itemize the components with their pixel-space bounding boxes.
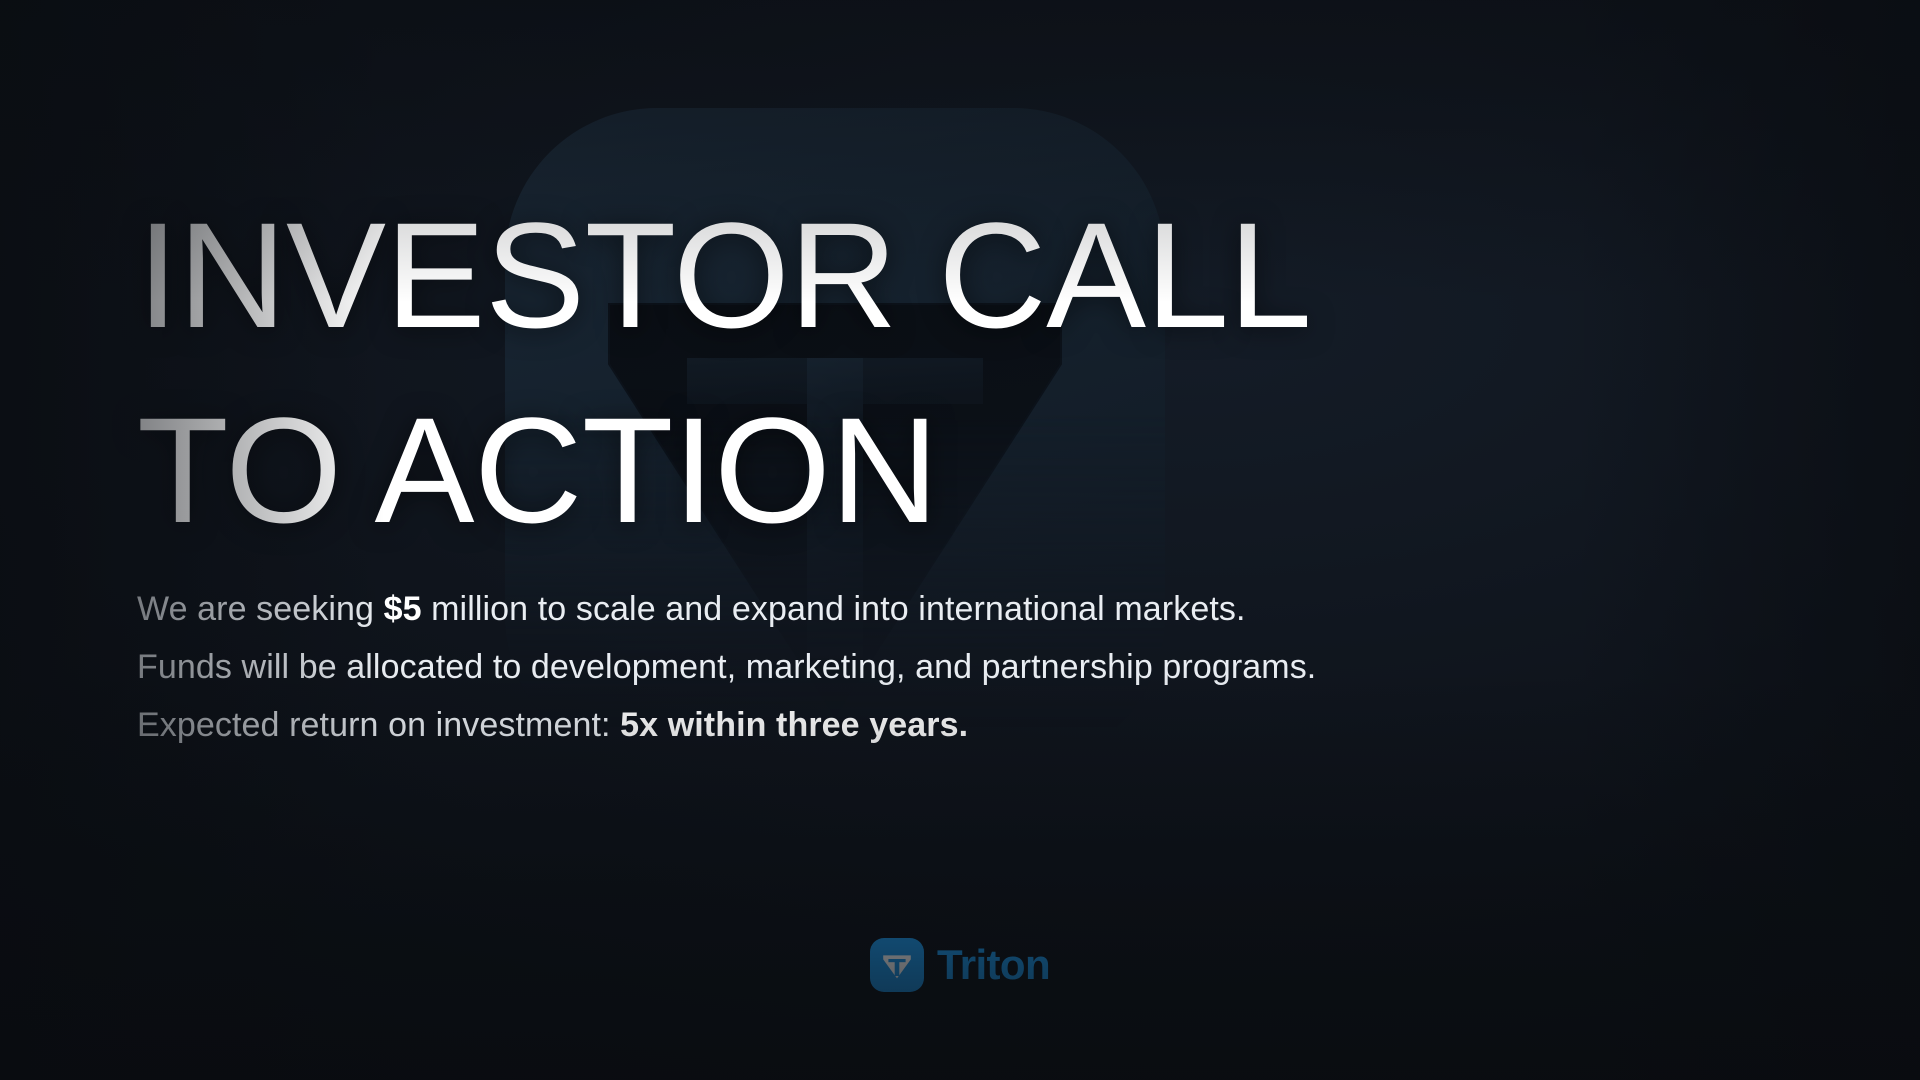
body-line-1-emphasis: $5 xyxy=(384,590,422,628)
body-line-3-part1: Expected return on investment: xyxy=(137,706,620,744)
body-line-2-part1: Funds will be allocated to development, … xyxy=(137,648,1316,686)
body-line-1-part1: We are seeking xyxy=(137,590,384,628)
body-line-2: Funds will be allocated to development, … xyxy=(137,638,1637,696)
brand-logo-lockup: Triton xyxy=(0,938,1920,992)
page-title: INVESTOR CALL TO ACTION xyxy=(137,178,1311,568)
brand-name: Triton xyxy=(937,944,1050,986)
body-line-1-part2: million to scale and expand into interna… xyxy=(422,590,1246,628)
body-line-1: We are seeking $5 million to scale and e… xyxy=(137,580,1637,638)
body-line-3: Expected return on investment: 5x within… xyxy=(137,696,1637,754)
triton-shield-icon xyxy=(870,938,924,992)
body-copy: We are seeking $5 million to scale and e… xyxy=(137,580,1637,754)
body-line-3-emphasis: 5x within three years. xyxy=(620,706,968,744)
